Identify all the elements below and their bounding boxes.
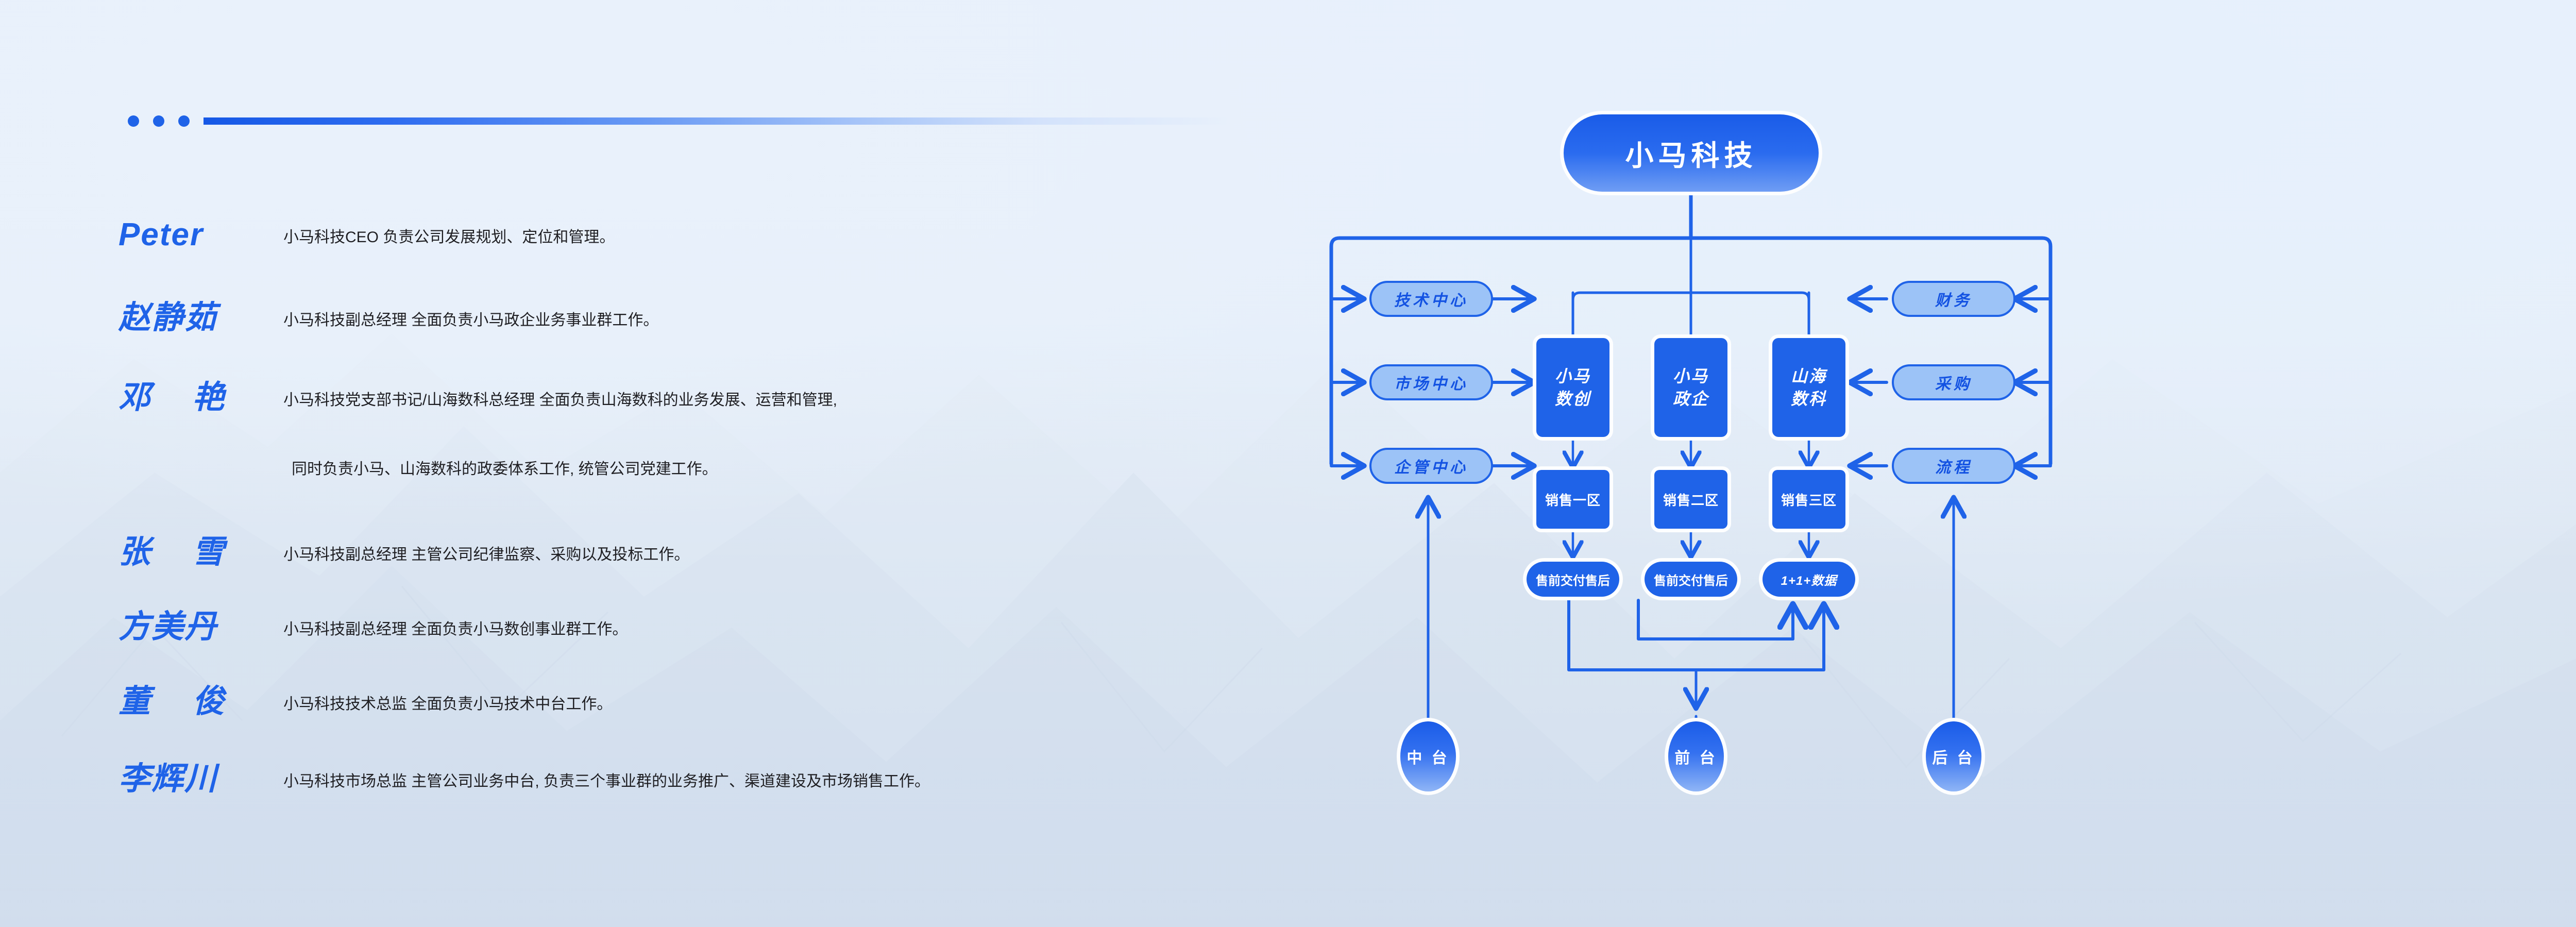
person-description: 小马科技党支部书记/山海数科总经理 全面负责山海数科的业务发展、运营和管理, — [283, 390, 837, 411]
person-name: 方美丹 — [118, 600, 283, 647]
bu-label-line2: 政企 — [1673, 387, 1709, 410]
diagram-node-finance[interactable]: 财务 — [1892, 281, 2015, 317]
diagram-node-root[interactable]: 小马科技 — [1564, 114, 1819, 192]
diagram-node-sales-zone-2[interactable]: 销售二区 — [1654, 470, 1727, 529]
person-name: 邓 艳 — [118, 371, 283, 417]
diagram-node-procurement[interactable]: 采购 — [1892, 364, 2015, 400]
diagram-node-tech-center[interactable]: 技术中心 — [1369, 281, 1493, 317]
person-row: 董 俊 小马科技技术总监 全面负责小马技术中台工作。 — [118, 675, 612, 721]
diagram-node-market-center[interactable]: 市场中心 — [1369, 364, 1493, 400]
person-name: Peter — [118, 216, 283, 253]
diagram-node-sales-zone-3[interactable]: 销售三区 — [1772, 470, 1845, 529]
diagram-node-bu-xiaoma-zhengqi[interactable]: 小马 政企 — [1654, 338, 1727, 437]
org-structure-diagram: 小马科技 技术中心 市场中心 企管中心 财务 采购 流程 小马 数创 小马 政企… — [1278, 0, 2576, 927]
bu-label-line1: 山海 — [1791, 365, 1827, 387]
person-name: 董 俊 — [118, 675, 283, 721]
decorative-dot-2 — [153, 115, 164, 127]
diagram-node-middle-platform[interactable]: 中 台 — [1400, 721, 1456, 791]
bu-label-line2: 数创 — [1555, 387, 1591, 410]
person-description-line2: 同时负责小马、山海数科的政委体系工作, 统管公司党建工作。 — [292, 456, 718, 479]
bu-label-line2: 数科 — [1791, 387, 1827, 410]
diagram-node-back-platform[interactable]: 后 台 — [1926, 721, 1981, 791]
diagram-node-bu-xiaoma-shuchuang[interactable]: 小马 数创 — [1536, 338, 1609, 437]
person-description: 小马科技技术总监 全面负责小马技术中台工作。 — [283, 694, 612, 715]
person-description: 小马科技副总经理 主管公司纪律监察、采购以及投标工作。 — [283, 545, 689, 566]
person-description: 小马科技CEO 负责公司发展规划、定位和管理。 — [283, 227, 615, 248]
person-description: 小马科技副总经理 全面负责小马数创事业群工作。 — [283, 619, 628, 641]
decorative-dot-1 — [128, 115, 139, 127]
decorative-dot-3 — [178, 115, 190, 127]
leadership-list-panel: Peter 小马科技CEO 负责公司发展规划、定位和管理。 赵静茹 小马科技副总… — [0, 0, 1278, 927]
person-name: 赵静茹 — [118, 291, 283, 338]
person-row: 邓 艳 小马科技党支部书记/山海数科总经理 全面负责山海数科的业务发展、运营和管… — [118, 371, 837, 417]
person-row: 李辉川 小马科技市场总监 主管公司业务中台, 负责三个事业群的业务推广、渠道建设… — [118, 752, 930, 799]
bu-label-line1: 小马 — [1673, 365, 1709, 387]
person-row: 张 雪 小马科技副总经理 主管公司纪律监察、采购以及投标工作。 — [118, 526, 689, 572]
bu-label-line1: 小马 — [1555, 365, 1591, 387]
person-description: 小马科技副总经理 全面负责小马政企业务事业群工作。 — [283, 310, 658, 331]
decorative-header-rule — [128, 115, 1275, 127]
person-name: 李辉川 — [118, 752, 283, 799]
diagram-node-service-presale-delivery-aftersale-2[interactable]: 售前交付售后 — [1645, 562, 1737, 597]
person-row: Peter 小马科技CEO 负责公司发展规划、定位和管理。 — [118, 216, 615, 253]
diagram-node-enterprise-mgmt-center[interactable]: 企管中心 — [1369, 448, 1493, 484]
person-row: 方美丹 小马科技副总经理 全面负责小马数创事业群工作。 — [118, 600, 628, 647]
diagram-node-bu-shanhai-shuke[interactable]: 山海 数科 — [1772, 338, 1845, 437]
decorative-gradient-bar — [204, 117, 1275, 125]
diagram-node-process[interactable]: 流程 — [1892, 448, 2015, 484]
diagram-node-sales-zone-1[interactable]: 销售一区 — [1536, 470, 1609, 529]
diagram-node-service-one-plus-one-plus-data[interactable]: 1+1+数据 — [1762, 562, 1855, 597]
person-name: 张 雪 — [118, 526, 283, 572]
diagram-node-front-platform[interactable]: 前 台 — [1668, 721, 1724, 791]
person-row: 赵静茹 小马科技副总经理 全面负责小马政企业务事业群工作。 — [118, 291, 658, 338]
person-description: 小马科技市场总监 主管公司业务中台, 负责三个事业群的业务推广、渠道建设及市场销… — [283, 771, 930, 793]
diagram-node-service-presale-delivery-aftersale-1[interactable]: 售前交付售后 — [1527, 562, 1619, 597]
